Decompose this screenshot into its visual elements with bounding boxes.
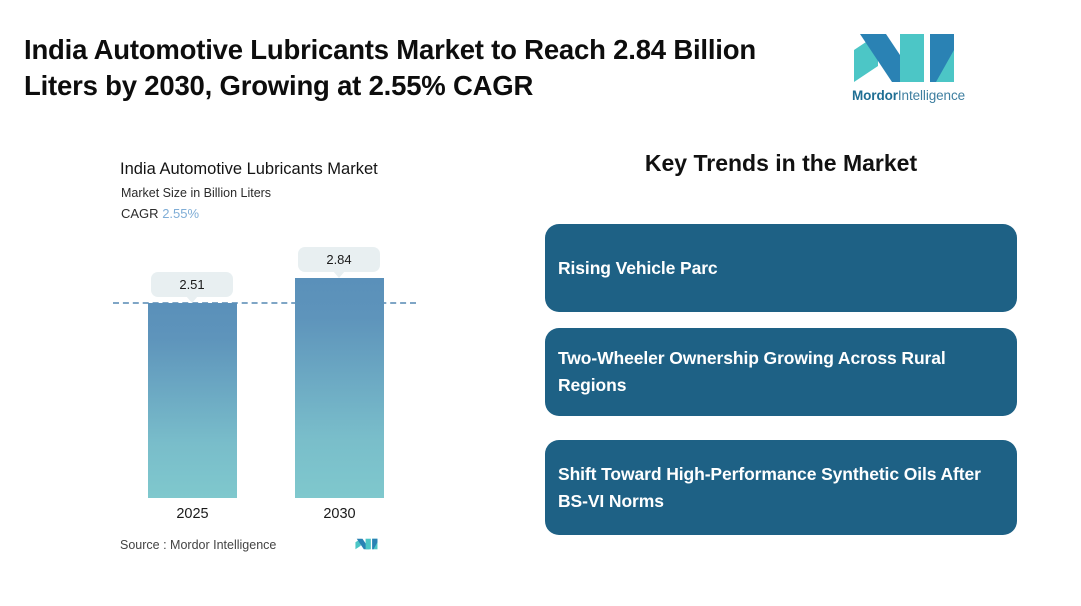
brand-word-mordor: Mordor bbox=[852, 88, 898, 103]
x-axis-label-2030: 2030 bbox=[295, 506, 384, 522]
bar-2030[interactable] bbox=[295, 278, 384, 498]
source-label: Source : bbox=[120, 538, 167, 552]
chart-panel: India Automotive Lubricants Market Marke… bbox=[0, 140, 520, 580]
mordor-intelligence-logo: MordorIntelligence bbox=[852, 32, 970, 104]
source-text: Source : Mordor Intelligence bbox=[120, 538, 276, 552]
bar-chart-plot: 2.51 2.84 2025 2030 bbox=[0, 140, 520, 580]
bar-2025[interactable] bbox=[148, 303, 237, 498]
trend-card-1[interactable]: Rising Vehicle Parc bbox=[545, 224, 1017, 312]
trend-card-3-label: Shift Toward High-Performance Synthetic … bbox=[558, 461, 1004, 514]
mordor-logo-mark-small-icon bbox=[355, 536, 381, 552]
key-trends-heading: Key Trends in the Market bbox=[545, 150, 1017, 177]
brand-word-intelligence: Intelligence bbox=[898, 88, 965, 103]
trend-card-1-label: Rising Vehicle Parc bbox=[558, 255, 718, 282]
infographic-page: India Automotive Lubricants Market to Re… bbox=[0, 0, 1081, 606]
trend-card-2[interactable]: Two-Wheeler Ownership Growing Across Rur… bbox=[545, 328, 1017, 416]
mordor-logo-mark-icon bbox=[852, 32, 970, 84]
page-title: India Automotive Lubricants Market to Re… bbox=[24, 32, 824, 105]
bar-value-label-2030: 2.84 bbox=[298, 247, 380, 272]
key-trends-panel: Key Trends in the Market Rising Vehicle … bbox=[545, 150, 1045, 177]
source-name: Mordor Intelligence bbox=[170, 538, 276, 552]
brand-wordmark: MordorIntelligence bbox=[852, 88, 970, 103]
trend-card-2-label: Two-Wheeler Ownership Growing Across Rur… bbox=[558, 345, 1004, 398]
bar-value-label-2025: 2.51 bbox=[151, 272, 233, 297]
source-row: Source : Mordor Intelligence bbox=[120, 536, 420, 558]
x-axis-label-2025: 2025 bbox=[148, 506, 237, 522]
trend-card-3[interactable]: Shift Toward High-Performance Synthetic … bbox=[545, 440, 1017, 535]
